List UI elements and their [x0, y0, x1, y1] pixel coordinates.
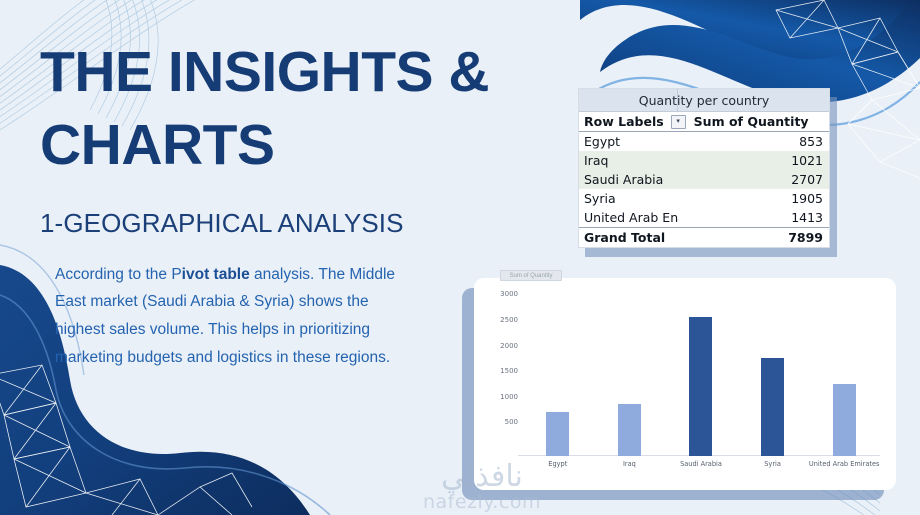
- bar-slot: [665, 292, 737, 456]
- page-title: THE INSIGHTS & CHARTS: [40, 36, 540, 182]
- bar-slot: [522, 292, 594, 456]
- x-axis-tick-label: Egypt: [522, 460, 594, 476]
- bar-series: [522, 292, 880, 456]
- table-row[interactable]: Egypt 853: [579, 132, 829, 151]
- row-value: 1413: [791, 210, 823, 225]
- bar[interactable]: [546, 412, 569, 456]
- grand-total-label: Grand Total: [584, 230, 665, 245]
- grand-total-row: Grand Total 7899: [579, 227, 829, 247]
- bar-slot: [594, 292, 666, 456]
- table-row[interactable]: Saudi Arabia 2707: [579, 170, 829, 189]
- bar-chart-card: Sum of Quantity 50010001500200025003000 …: [474, 278, 896, 490]
- column-header-row-labels: Row Labels: [579, 114, 664, 129]
- y-axis-tick: 2000: [500, 342, 518, 350]
- page-title-line-2: CHARTS: [40, 109, 540, 182]
- bar-slot: [808, 292, 880, 456]
- watermark-latin: nafezly.com: [392, 492, 572, 513]
- pivot-field-button[interactable]: Sum of Quantity: [500, 270, 562, 281]
- slide-canvas: THE INSIGHTS & CHARTS 1-GEOGRAPHICAL ANA…: [0, 0, 920, 515]
- pivot-table-title: Quantity per country: [579, 89, 829, 112]
- y-axis-tick: 1000: [500, 393, 518, 401]
- body-bold-text: ivot table: [182, 266, 250, 283]
- pivot-table-header-row: Row Labels ▾ Sum of Quantity: [579, 112, 829, 132]
- row-label: Saudi Arabia: [584, 172, 663, 187]
- row-value: 2707: [791, 172, 823, 187]
- grand-total-value: 7899: [788, 230, 823, 245]
- bar-slot: [737, 292, 809, 456]
- body-lead-text: According to the P: [55, 266, 182, 283]
- bar[interactable]: [761, 358, 784, 456]
- row-label: Syria: [584, 191, 616, 206]
- x-axis-tick-label: Saudi Arabia: [665, 460, 737, 476]
- section-subtitle: 1-GEOGRAPHICAL ANALYSIS: [40, 208, 540, 239]
- table-row[interactable]: United Arab En 1413: [579, 208, 829, 227]
- bar[interactable]: [833, 384, 856, 456]
- x-axis-tick-label: Syria: [737, 460, 809, 476]
- x-axis-labels: EgyptIraqSaudi ArabiaSyriaUnited Arab Em…: [522, 460, 880, 476]
- chevron-down-icon[interactable]: ▾: [671, 115, 686, 129]
- body-paragraph: According to the Pivot table analysis. T…: [55, 261, 420, 371]
- x-axis-tick-label: Iraq: [594, 460, 666, 476]
- column-header-sum-of-quantity: Sum of Quantity: [686, 114, 809, 129]
- row-value: 853: [799, 134, 823, 149]
- content-column: THE INSIGHTS & CHARTS 1-GEOGRAPHICAL ANA…: [40, 36, 540, 371]
- page-title-line-1: THE INSIGHTS &: [40, 36, 540, 109]
- table-row[interactable]: Syria 1905: [579, 189, 829, 208]
- row-label: United Arab En: [584, 210, 678, 225]
- row-value: 1021: [791, 153, 823, 168]
- y-axis-tick: 500: [505, 418, 518, 426]
- y-axis-tick: 1500: [500, 367, 518, 375]
- pivot-table-card: Quantity per country Row Labels ▾ Sum of…: [578, 88, 830, 248]
- y-axis-tick: 3000: [500, 290, 518, 298]
- bar[interactable]: [618, 404, 641, 456]
- row-label: Iraq: [584, 153, 608, 168]
- table-row[interactable]: Iraq 1021: [579, 151, 829, 170]
- row-label: Egypt: [584, 134, 620, 149]
- bar[interactable]: [689, 317, 712, 456]
- x-axis-tick-label: United Arab Emirates: [808, 460, 880, 476]
- row-value: 1905: [791, 191, 823, 206]
- y-axis-tick: 2500: [500, 316, 518, 324]
- y-axis: 50010001500200025003000: [484, 292, 518, 456]
